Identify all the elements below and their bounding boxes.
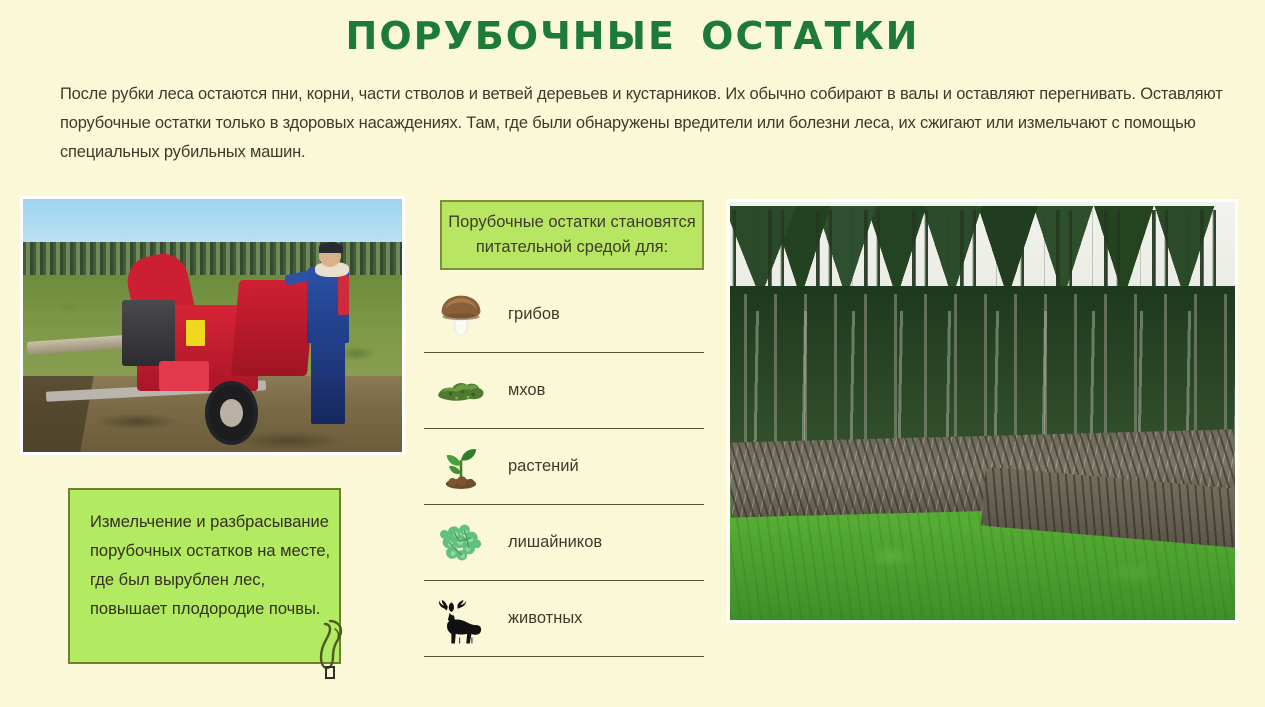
deer-icon — [430, 588, 492, 650]
intro-line-2: порубочные остатки только в здоровых нас… — [60, 109, 1215, 138]
trailer-wheel — [205, 381, 258, 445]
slide-root: ПОРУБОЧНЫЕ ОСТАТКИ После рубки леса оста… — [0, 0, 1265, 707]
lichen-icon — [430, 512, 492, 574]
warning-decal — [186, 320, 205, 345]
info-header-line-2: питательной средой для: — [476, 235, 668, 260]
worker-cap — [319, 242, 344, 253]
list-item-label: растений — [508, 457, 579, 476]
worker-jacket-stripe — [338, 275, 349, 315]
list-item: грибов — [424, 277, 704, 353]
intro-line-1: После рубки леса остаются пни, корни, ча… — [60, 80, 1215, 109]
photo-chipper-machine — [20, 196, 405, 455]
mushroom-icon — [430, 284, 492, 346]
chipper-hopper — [231, 280, 315, 376]
seedling-icon — [430, 436, 492, 498]
callout-line-3: где был вырублен лес, — [90, 566, 339, 595]
intro-line-3: специальных рубильных машин. — [60, 138, 1215, 167]
worker-legs — [311, 338, 345, 424]
callout-line-2: порубочных остатков на месте, — [90, 537, 339, 566]
list-item-label: мхов — [508, 381, 545, 400]
page-title: ПОРУБОЧНЫЕ ОСТАТКИ — [0, 14, 1265, 58]
benefit-list: грибов мхов — [424, 277, 704, 657]
moss-icon — [430, 360, 492, 422]
list-item: растений — [424, 429, 704, 505]
callout-line-4: повышает плодородие почвы. — [90, 595, 339, 624]
info-header-line-1: Порубочные остатки становятся — [448, 210, 695, 235]
list-item: животных — [424, 581, 704, 657]
list-item-label: грибов — [508, 305, 560, 324]
callout-box: Измельчение и разбрасывание порубочных о… — [68, 488, 341, 664]
list-item-label: животных — [508, 609, 582, 628]
intro-paragraph: После рубки леса остаются пни, корни, ча… — [60, 80, 1215, 167]
list-item: лишайников — [424, 505, 704, 581]
chipper-engine — [122, 300, 175, 366]
list-item: мхов — [424, 353, 704, 429]
info-header-box: Порубочные остатки становятся питательно… — [440, 200, 704, 270]
callout-line-1: Измельчение и разбрасывание — [90, 508, 339, 537]
list-item-label: лишайников — [508, 533, 602, 552]
fuel-tank — [159, 361, 208, 391]
photo-forest-slash — [727, 199, 1238, 623]
carabiner-icon — [313, 617, 347, 685]
